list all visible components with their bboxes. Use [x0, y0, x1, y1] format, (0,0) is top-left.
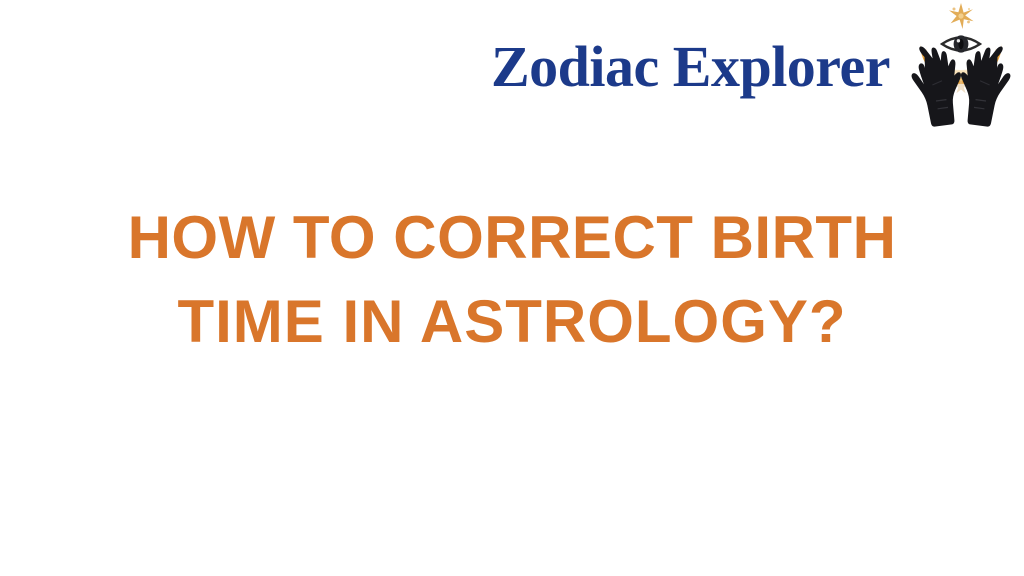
page-title: How to Correct Birth Time in Astrology?: [0, 196, 1024, 364]
brand-header: Zodiac Explorer: [0, 0, 1024, 135]
logo-mark: [906, 0, 1016, 132]
star-sparkle-icon: [949, 3, 974, 29]
page-title-line-1: How to Correct Birth: [0, 196, 1024, 280]
brand-title: Zodiac Explorer: [420, 36, 890, 98]
hands-holding-crescent-moon-with-eye-icon: [906, 0, 1016, 132]
left-hand-icon: [912, 46, 961, 126]
eye-icon: [942, 35, 980, 52]
right-hand-icon: [961, 46, 1010, 126]
page-title-line-2: Time in Astrology?: [0, 280, 1024, 364]
